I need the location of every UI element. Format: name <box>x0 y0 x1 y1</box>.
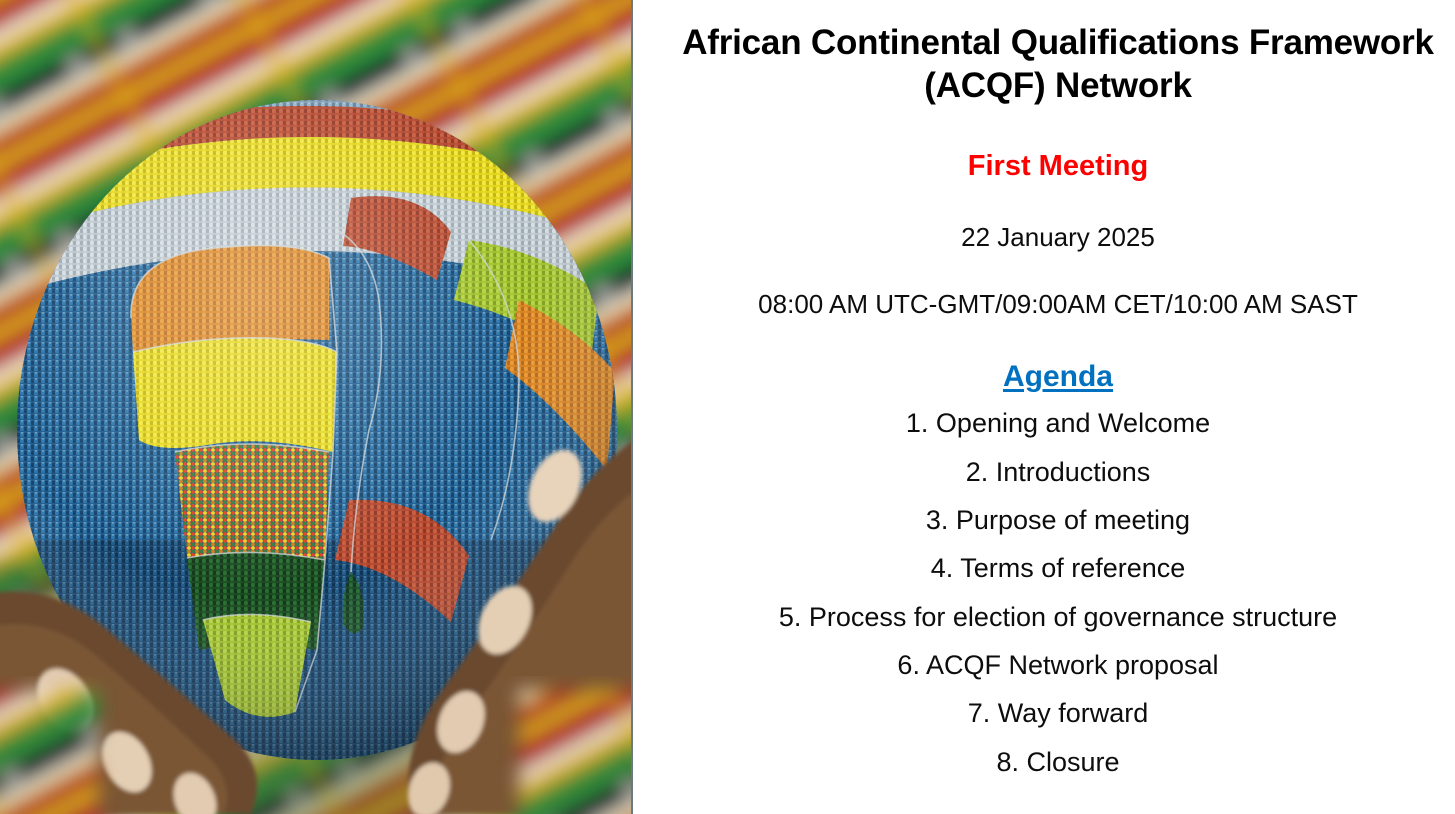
agenda-heading: Agenda <box>667 360 1449 393</box>
list-item: 5. Process for election of governance st… <box>667 593 1449 641</box>
page-title-line-2: (ACQF) Network <box>667 65 1449 108</box>
list-item: 3. Purpose of meeting <box>667 496 1449 544</box>
slide-text-pane: African Continental Qualifications Frame… <box>633 0 1455 814</box>
beaded-globe-photo <box>0 0 633 814</box>
list-item: 8. Closure <box>667 738 1449 786</box>
list-item: 6. ACQF Network proposal <box>667 641 1449 689</box>
slide-root: African Continental Qualifications Frame… <box>0 0 1455 814</box>
meeting-date: 22 January 2025 <box>667 223 1449 252</box>
beaded-globe-illustration <box>0 0 631 814</box>
agenda-list: 1. Opening and Welcome 2. Introductions … <box>667 399 1449 786</box>
list-item: 4. Terms of reference <box>667 544 1449 592</box>
page-title-line-1: African Continental Qualifications Frame… <box>667 22 1449 65</box>
list-item: 7. Way forward <box>667 689 1449 737</box>
list-item: 1. Opening and Welcome <box>667 399 1449 447</box>
page-title: African Continental Qualifications Frame… <box>667 22 1449 107</box>
list-item: 2. Introductions <box>667 448 1449 496</box>
meeting-time: 08:00 AM UTC-GMT/09:00AM CET/10:00 AM SA… <box>667 290 1449 319</box>
meeting-label: First Meeting <box>667 151 1449 183</box>
